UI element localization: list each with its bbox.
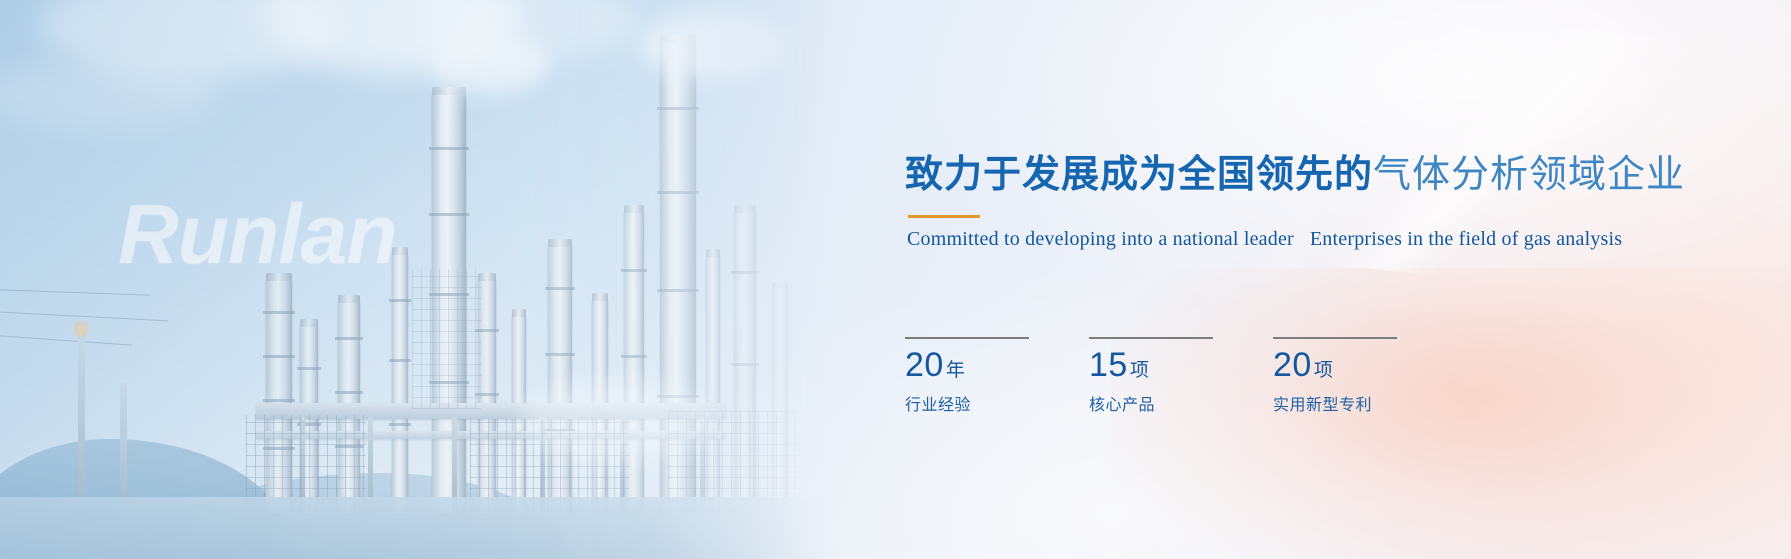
stat-divider	[905, 337, 1029, 339]
stat-value: 20项	[1273, 348, 1397, 382]
distillation-tower	[392, 255, 408, 513]
stat-unit: 年	[946, 360, 965, 381]
steam-plume	[640, 10, 790, 80]
scaffold-lattice	[412, 269, 482, 409]
headline-tail: 气体分析领域企业	[1373, 154, 1685, 196]
photo-ground	[0, 497, 830, 559]
stat-number: 20	[905, 346, 944, 384]
stat-label: 实用新型专利	[1273, 391, 1397, 415]
stat-number: 15	[1089, 346, 1128, 384]
stat-label: 行业经验	[905, 391, 1029, 415]
steam-plume	[520, 380, 720, 460]
stats-row: 20年 行业经验 15项 核心产品 20项 实用新型专利	[905, 337, 1397, 415]
subtitle-part-2: Enterprises in the field of gas analysis	[1310, 228, 1622, 250]
headline: 致力于发展成为全国领先的气体分析领域企业	[905, 152, 1685, 200]
stat-value: 20年	[905, 348, 1029, 382]
accent-rule	[908, 215, 980, 218]
stat-item: 20年 行业经验	[905, 337, 1029, 415]
steam-plume	[430, 34, 550, 94]
stat-divider	[1089, 337, 1213, 339]
stat-label: 核心产品	[1089, 391, 1213, 415]
banner-content: 致力于发展成为全国领先的气体分析领域企业 Committed to develo…	[905, 0, 1791, 559]
stat-unit: 项	[1130, 360, 1149, 381]
flare-stack	[78, 333, 85, 503]
subtitle-part-1: Committed to developing into a national …	[907, 228, 1294, 250]
stat-divider	[1273, 337, 1397, 339]
stat-value: 15项	[1089, 348, 1213, 382]
stat-item: 20项 实用新型专利	[1273, 337, 1397, 415]
hero-banner: Runlan 致力于发展成为全国领先的气体分析领域企业 Committed to…	[0, 0, 1791, 559]
stat-number: 20	[1273, 346, 1312, 384]
subtitle: Committed to developing into a national …	[907, 228, 1622, 251]
headline-emphasis: 致力于发展成为全国领先的	[905, 154, 1373, 196]
stat-unit: 项	[1314, 360, 1333, 381]
flare-stack	[120, 383, 127, 503]
stat-item: 15项 核心产品	[1089, 337, 1213, 415]
flare-flame	[74, 317, 88, 337]
refinery-photo	[0, 0, 830, 559]
